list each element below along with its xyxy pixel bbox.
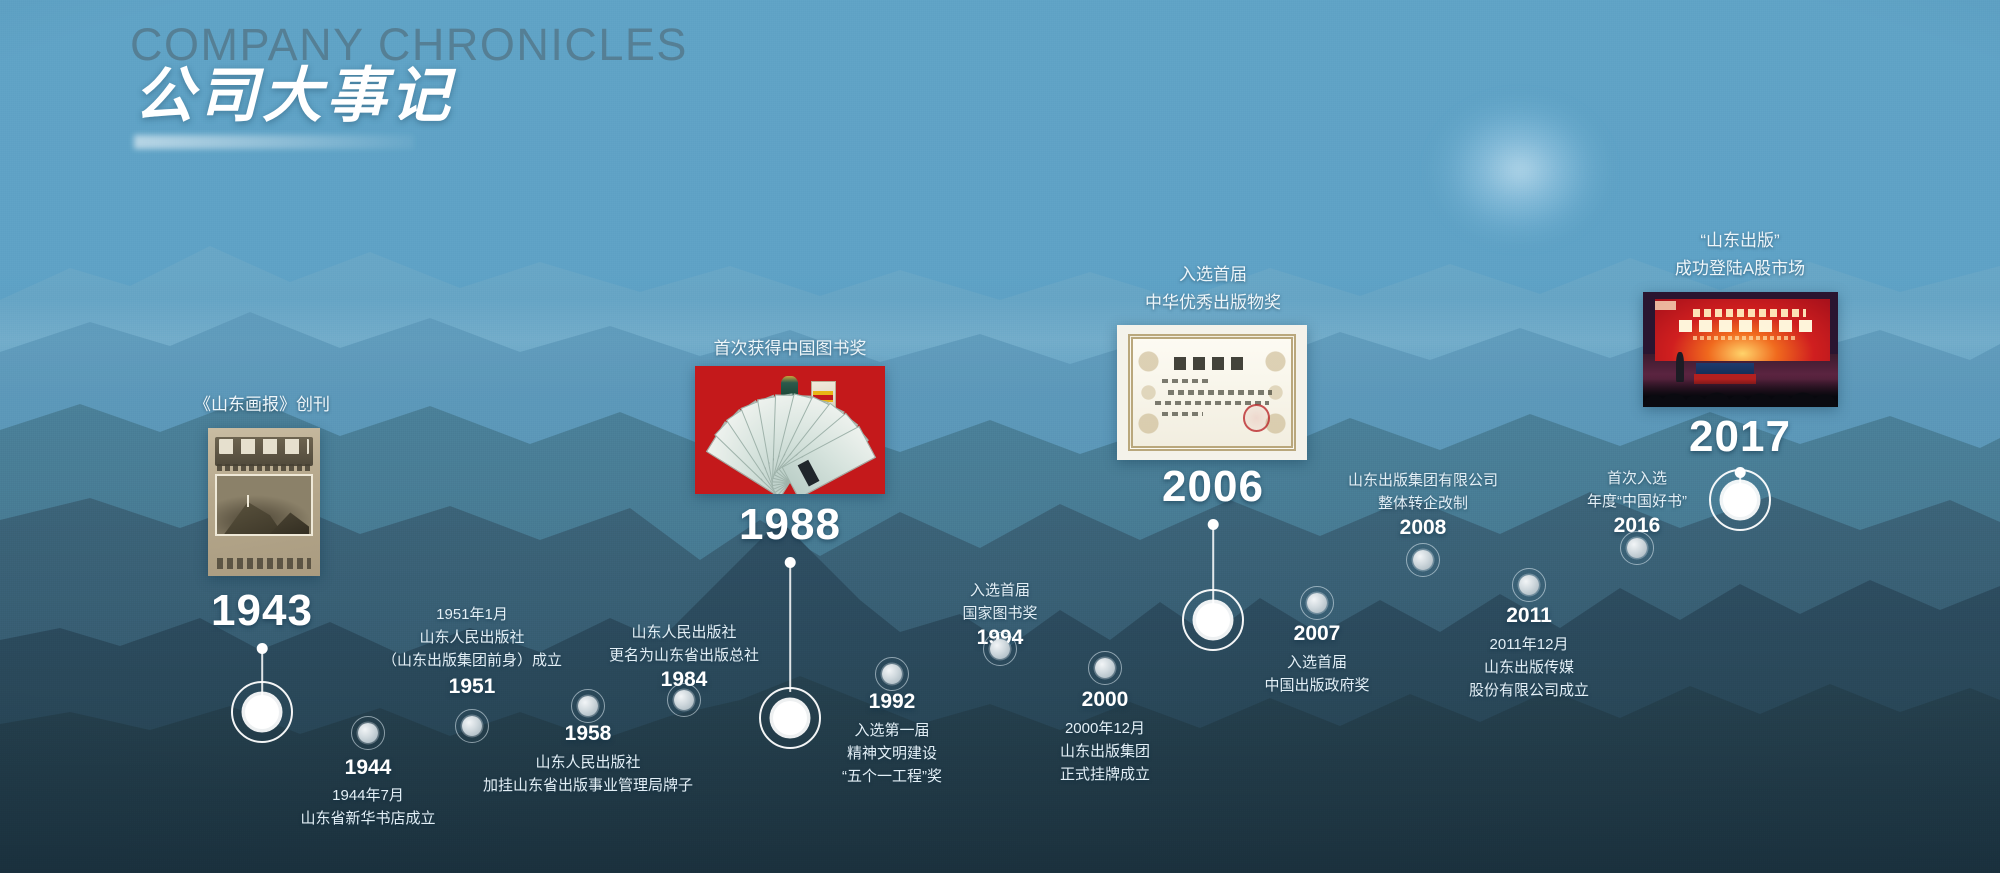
- event-year-1943: 1943: [211, 586, 313, 636]
- timeline-marker-2017[interactable]: [1723, 483, 1757, 517]
- event-line-2007-0: 入选首届: [1287, 652, 1347, 675]
- event-caption-2006-line-0: 入选首届: [1179, 262, 1247, 287]
- event-line-2000-1: 山东出版集团: [1060, 741, 1150, 764]
- event-year-1944: 1944: [345, 756, 392, 780]
- event-line-1984-1: 更名为山东省出版总社: [609, 645, 759, 668]
- event-line-2011-1: 山东出版传媒: [1484, 657, 1574, 680]
- photo-award-certificate-2006: [1117, 325, 1307, 460]
- event-line-2011-0: 2011年12月: [1490, 634, 1569, 657]
- event-year-1992: 1992: [869, 690, 916, 714]
- event-year-2000: 2000: [1082, 688, 1129, 712]
- event-line-1992-1: 精神文明建设: [847, 743, 937, 766]
- event-year-2008: 2008: [1400, 516, 1447, 540]
- timeline-marker-1943[interactable]: [245, 695, 279, 729]
- event-line-1958-0: 山东人民出版社: [535, 752, 640, 775]
- timeline-marker-1951[interactable]: [462, 716, 482, 736]
- event-line-2016-1: 年度“中国好书”: [1587, 491, 1687, 514]
- timeline-marker-1958[interactable]: [578, 696, 598, 716]
- event-line-1951-1: 山东人民出版社: [419, 627, 524, 650]
- timeline-marker-2008[interactable]: [1413, 550, 1433, 570]
- event-caption-2017-line-0: “山东出版”: [1700, 228, 1779, 253]
- event-line-1992-0: 入选第一届: [854, 720, 929, 743]
- event-year-1951: 1951: [449, 675, 496, 699]
- timeline-marker-2000[interactable]: [1095, 658, 1115, 678]
- photo-magazine-cover-1943: [208, 428, 320, 576]
- timeline-marker-1994[interactable]: [990, 639, 1010, 659]
- event-caption-2017-line-1: 成功登陆A股市场: [1675, 256, 1805, 281]
- photo-china-book-award-1988: [695, 366, 885, 494]
- event-line-2008-1: 整体转企改制: [1378, 493, 1468, 516]
- timeline-marker-1992[interactable]: [882, 664, 902, 684]
- timeline-marker-2016[interactable]: [1627, 538, 1647, 558]
- event-caption-2006-line-1: 中华优秀出版物奖: [1145, 290, 1281, 315]
- page-title: COMPANY CHRONICLES 公司大事记: [130, 22, 688, 67]
- timeline-marker-2006[interactable]: [1196, 603, 1230, 637]
- title-chinese: 公司大事记: [134, 58, 454, 133]
- event-year-2006: 2006: [1162, 462, 1264, 512]
- connector-stem-1988: [789, 562, 791, 692]
- event-year-2017: 2017: [1689, 412, 1791, 462]
- event-line-1944-1: 山东省新华书店成立: [300, 808, 435, 831]
- event-year-2011: 2011: [1506, 604, 1552, 628]
- infographic-canvas: COMPANY CHRONICLES 公司大事记 《山东画报》创刊 1943 1…: [0, 0, 2000, 873]
- event-line-2007-1: 中国出版政府奖: [1264, 675, 1369, 698]
- event-line-1944-0: 1944年7月: [332, 785, 404, 808]
- event-caption-1943: 《山东画报》创刊: [194, 392, 330, 417]
- event-line-1992-2: “五个一工程”奖: [842, 766, 942, 789]
- title-underline-glow: [134, 135, 414, 149]
- event-caption-1988: 首次获得中国图书奖: [714, 336, 867, 361]
- photo-ipo-ceremony-2017: [1643, 292, 1838, 407]
- event-year-2007: 2007: [1294, 622, 1341, 646]
- timeline-marker-2011[interactable]: [1519, 575, 1539, 595]
- event-line-1994-0: 入选首届: [970, 580, 1030, 603]
- timeline-marker-1984[interactable]: [674, 690, 694, 710]
- event-line-2000-0: 2000年12月: [1065, 718, 1145, 741]
- event-line-1994-1: 国家图书奖: [962, 603, 1037, 626]
- timeline-marker-1988[interactable]: [773, 701, 807, 735]
- event-line-1984-0: 山东人民出版社: [631, 622, 736, 645]
- event-year-1988: 1988: [739, 500, 841, 550]
- event-line-2008-0: 山东出版集团有限公司: [1348, 470, 1498, 493]
- event-line-2016-0: 首次入选: [1607, 468, 1667, 491]
- event-line-1951-0: 1951年1月: [436, 604, 508, 627]
- event-line-1958-1: 加挂山东省出版事业管理局牌子: [483, 775, 693, 798]
- timeline-marker-2007[interactable]: [1307, 593, 1327, 613]
- event-line-2000-2: 正式挂牌成立: [1060, 764, 1150, 787]
- event-year-1958: 1958: [565, 722, 612, 746]
- timeline-marker-1944[interactable]: [358, 723, 378, 743]
- event-line-2011-2: 股份有限公司成立: [1469, 680, 1589, 703]
- event-line-1951-2: （山东出版集团前身）成立: [382, 650, 562, 673]
